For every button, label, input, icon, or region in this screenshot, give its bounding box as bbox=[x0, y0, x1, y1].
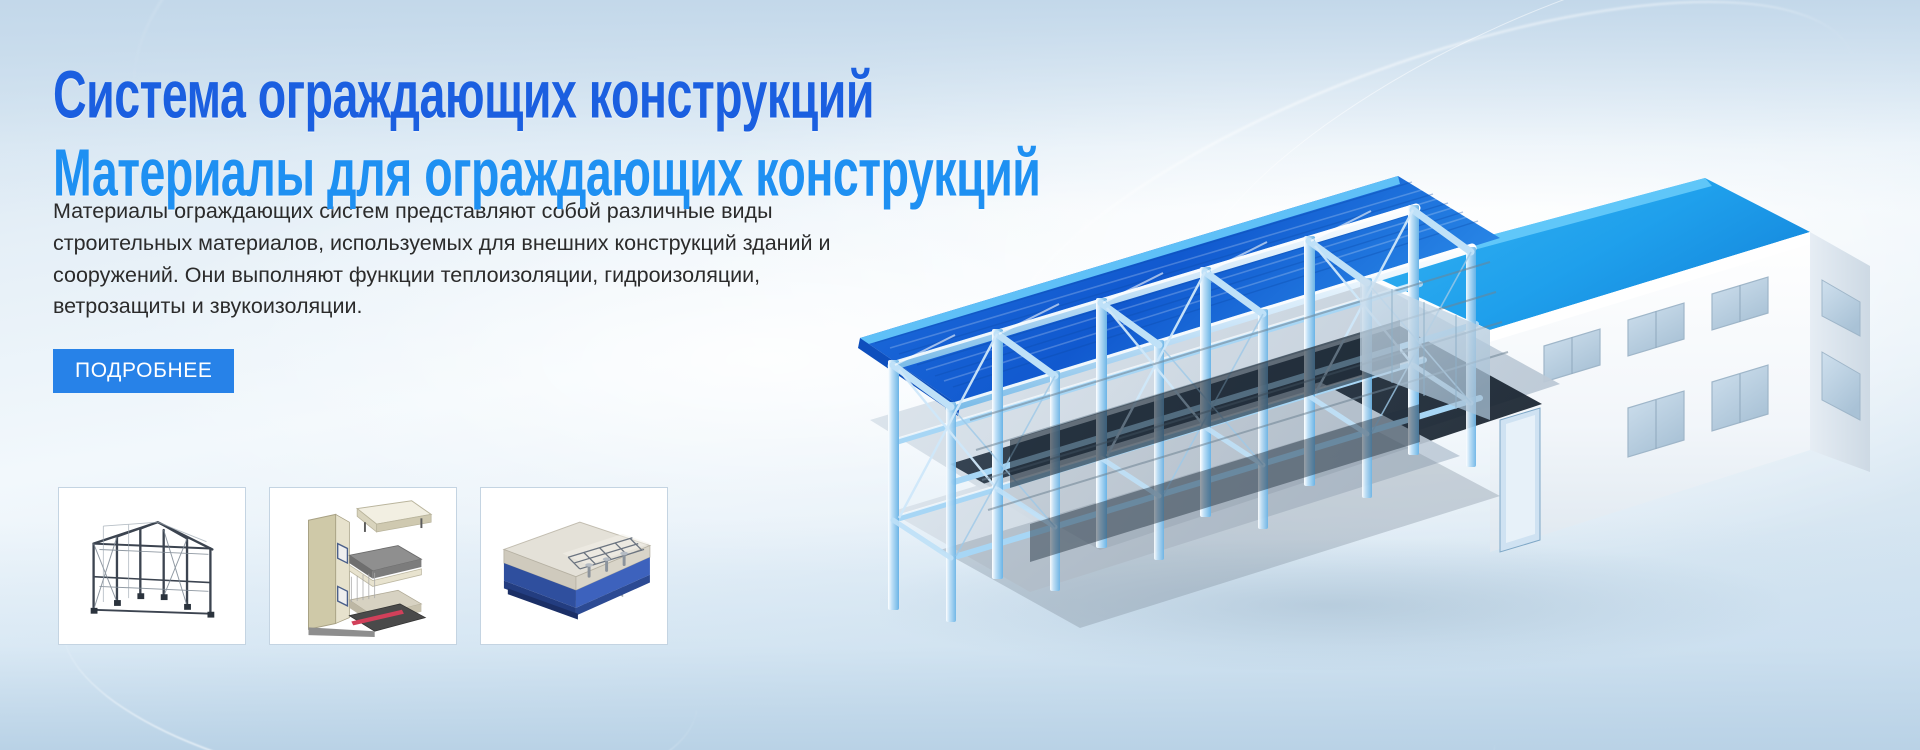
headline-line-2: Материалы для ограждающих конструкций bbox=[53, 140, 885, 205]
thumbnail-steel-frame-structure[interactable] bbox=[58, 487, 246, 645]
description-paragraph: Материалы ограждающих систем представляю… bbox=[53, 196, 843, 323]
thumbnail-image-1 bbox=[64, 493, 240, 639]
promo-banner: Система ограждающих конструкций Материал… bbox=[0, 0, 1920, 750]
thumbnail-image-2 bbox=[275, 493, 451, 639]
thumbnail-image-3 bbox=[486, 493, 662, 639]
thumbnail-wall-floor-assembly[interactable] bbox=[269, 487, 457, 645]
learn-more-button[interactable]: ПОДРОБНЕЕ bbox=[53, 349, 234, 393]
thumbnail-gallery bbox=[58, 487, 668, 645]
thumbnail-composite-slab-deck[interactable] bbox=[480, 487, 668, 645]
description-text: Материалы ограждающих систем представляю… bbox=[53, 196, 843, 323]
headline-line-1: Система ограждающих конструкций bbox=[53, 62, 885, 127]
headline-block: Система ограждающих конструкций Материал… bbox=[53, 62, 893, 190]
banner-content: Система ограждающих конструкций Материал… bbox=[53, 62, 893, 393]
